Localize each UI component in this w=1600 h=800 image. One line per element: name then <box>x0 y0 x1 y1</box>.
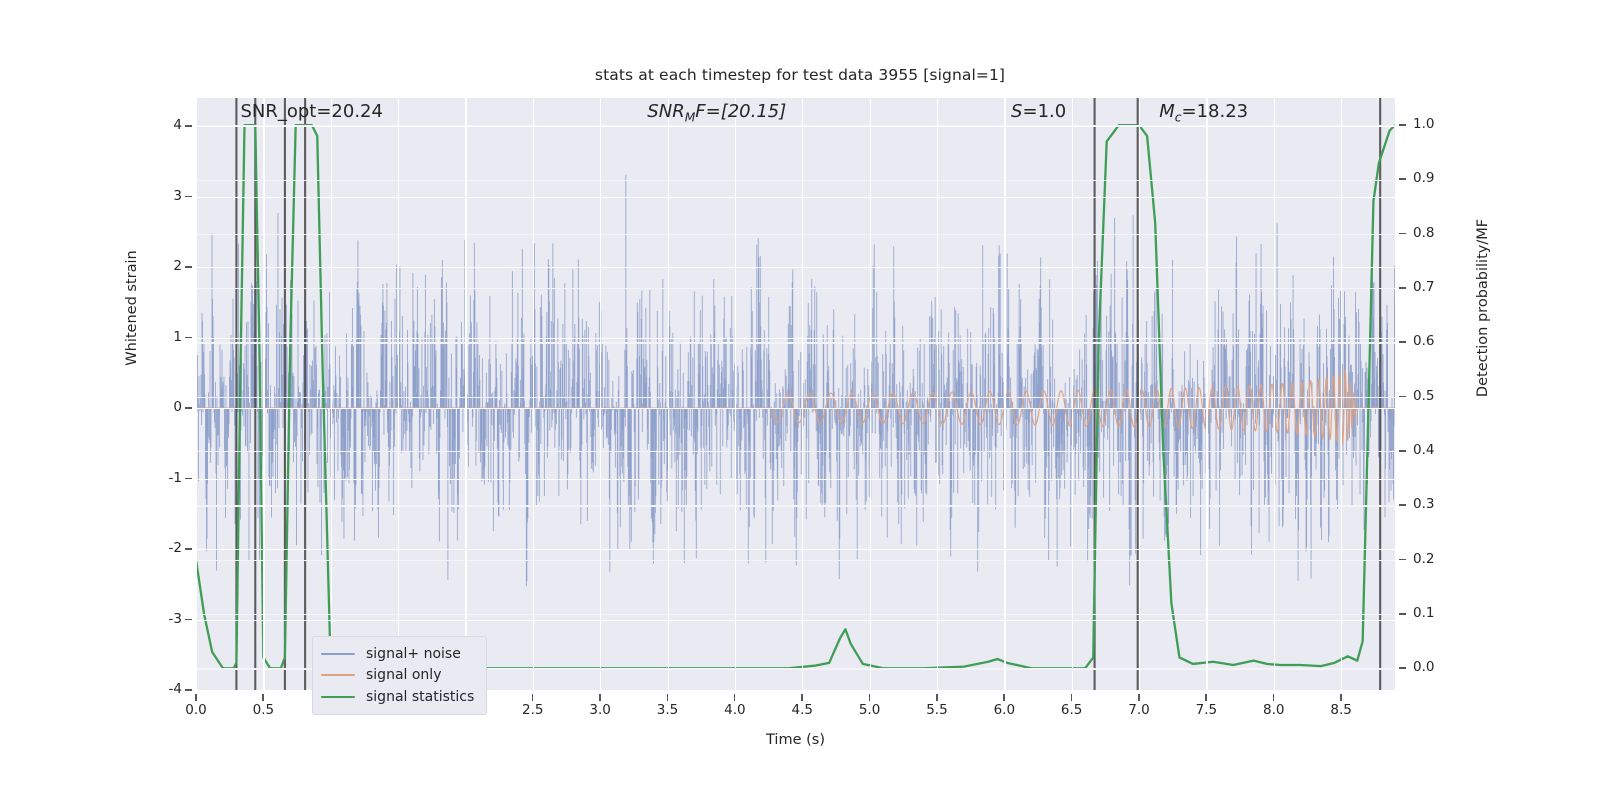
tick-mark <box>1273 694 1275 701</box>
y-tick-left-3: 1 <box>136 329 182 345</box>
tick-mark <box>801 694 803 701</box>
tick-mark <box>1138 694 1140 701</box>
figure-canvas: stats at each timestep for test data 395… <box>0 0 1600 800</box>
gridline-horizontal-minor <box>196 560 1395 561</box>
gridline-vertical <box>196 98 197 690</box>
tick-mark <box>667 694 669 701</box>
x-tick-10: 5.0 <box>840 702 900 718</box>
tick-mark <box>1340 694 1342 701</box>
gridline-vertical <box>1274 98 1275 690</box>
legend[interactable]: signal+ noisesignal onlysignal statistic… <box>312 636 487 715</box>
tick-mark <box>1071 694 1073 701</box>
tick-mark <box>185 619 192 621</box>
legend-label: signal statistics <box>366 689 474 705</box>
x-tick-9: 4.5 <box>772 702 832 718</box>
tick-mark <box>1399 450 1406 452</box>
gridline-horizontal <box>196 620 1395 621</box>
y-tick-right-3: 0.7 <box>1413 279 1465 295</box>
tick-mark <box>1399 233 1406 235</box>
gridline-horizontal-minor <box>196 342 1395 343</box>
gridline-vertical <box>1341 98 1342 690</box>
tick-mark <box>734 694 736 701</box>
gridline-horizontal <box>196 338 1395 339</box>
y-tick-left-7: -3 <box>136 611 182 627</box>
gridline-vertical <box>1206 98 1207 690</box>
tick-mark <box>185 478 192 480</box>
tick-mark <box>1399 559 1406 561</box>
tick-mark <box>599 694 601 701</box>
tick-mark <box>1399 613 1406 615</box>
y-tick-right-9: 0.1 <box>1413 605 1465 621</box>
tick-mark <box>1399 341 1406 343</box>
annotation-mc-text: Mc <box>1159 101 1181 122</box>
tick-mark <box>185 196 192 198</box>
x-tick-16: 8.0 <box>1244 702 1304 718</box>
gridline-vertical <box>1072 98 1073 690</box>
gridline-vertical <box>600 98 601 690</box>
plot-area <box>196 98 1395 690</box>
gridline-vertical <box>331 98 332 690</box>
gridline-horizontal-minor <box>196 288 1395 289</box>
legend-item-1[interactable]: signal only <box>321 665 474 687</box>
gridline-vertical <box>668 98 669 690</box>
gridline-vertical <box>937 98 938 690</box>
y-tick-left-2: 2 <box>136 258 182 274</box>
annotation-chirp-mass: Mc=18.23 <box>1159 101 1248 125</box>
y-tick-right-2: 0.8 <box>1413 225 1465 241</box>
annotation-s-prefix: S <box>1011 101 1022 122</box>
x-axis-label: Time (s) <box>196 732 1395 748</box>
y-tick-left-6: -2 <box>136 540 182 556</box>
y-tick-right-7: 0.3 <box>1413 496 1465 512</box>
tick-mark <box>869 694 871 701</box>
tick-mark <box>185 125 192 127</box>
y-tick-right-8: 0.2 <box>1413 551 1465 567</box>
x-tick-12: 6.0 <box>974 702 1034 718</box>
legend-swatch-icon <box>321 696 355 698</box>
tick-mark <box>936 694 938 701</box>
gridline-vertical <box>465 98 466 690</box>
tick-mark <box>195 694 197 701</box>
page-title: stats at each timestep for test data 395… <box>0 66 1600 84</box>
gridline-vertical <box>1139 98 1140 690</box>
annotation-snr-opt: SNR_opt=20.24 <box>240 101 383 122</box>
y-tick-right-6: 0.4 <box>1413 442 1465 458</box>
tick-mark <box>1205 694 1207 701</box>
y-tick-left-5: -1 <box>136 470 182 486</box>
gridline-vertical <box>263 98 264 690</box>
annotation-s-suffix: =1.0 <box>1022 101 1066 122</box>
gridline-vertical <box>870 98 871 690</box>
gridline-horizontal <box>196 267 1395 268</box>
gridline-vertical <box>802 98 803 690</box>
x-tick-13: 6.5 <box>1042 702 1102 718</box>
gridline-horizontal-minor <box>196 125 1395 126</box>
annotation-snr-opt-text: SNR_opt=20.24 <box>240 101 383 122</box>
y-tick-right-0: 1.0 <box>1413 116 1465 132</box>
tick-mark <box>262 694 264 701</box>
y-axis-right-label: Detection probability/MF <box>1475 143 1491 473</box>
gridline-horizontal <box>196 549 1395 550</box>
x-tick-5: 2.5 <box>503 702 563 718</box>
gridline-horizontal-minor <box>196 397 1395 398</box>
x-tick-1: 0.5 <box>233 702 293 718</box>
y-tick-right-1: 0.9 <box>1413 170 1465 186</box>
tick-mark <box>532 694 534 701</box>
legend-label: signal+ noise <box>366 646 461 662</box>
y-tick-right-10: 0.0 <box>1413 659 1465 675</box>
x-tick-0: 0.0 <box>166 702 226 718</box>
legend-swatch-icon <box>321 674 355 676</box>
legend-item-0[interactable]: signal+ noise <box>321 643 474 665</box>
annotation-snr-mf-text: SNRM <box>647 101 695 122</box>
x-tick-8: 4.0 <box>705 702 765 718</box>
tick-mark <box>185 337 192 339</box>
series-signal-noise <box>196 175 1395 586</box>
gridline-horizontal-minor <box>196 451 1395 452</box>
x-tick-14: 7.0 <box>1109 702 1169 718</box>
tick-mark <box>1399 667 1406 669</box>
annotation-signal-stat: S=1.0 <box>1011 101 1066 122</box>
annotation-mc-suffix: =18.23 <box>1182 101 1249 122</box>
tick-mark <box>185 689 192 691</box>
gridline-horizontal-minor <box>196 180 1395 181</box>
x-tick-17: 8.5 <box>1311 702 1371 718</box>
gridline-vertical <box>735 98 736 690</box>
legend-item-2[interactable]: signal statistics <box>321 686 474 708</box>
gridline-horizontal-minor <box>196 505 1395 506</box>
tick-mark <box>185 548 192 550</box>
gridline-vertical <box>1004 98 1005 690</box>
gridline-horizontal-minor <box>196 614 1395 615</box>
x-tick-15: 7.5 <box>1176 702 1236 718</box>
x-tick-6: 3.0 <box>570 702 630 718</box>
tick-mark <box>185 266 192 268</box>
y-tick-left-0: 4 <box>136 117 182 133</box>
tick-mark <box>1399 124 1406 126</box>
annotation-snr-mf: SNRMF=[20.15] <box>647 101 786 125</box>
tick-mark <box>185 407 192 409</box>
tick-mark <box>1399 396 1406 398</box>
tick-mark <box>1003 694 1005 701</box>
tick-mark <box>1399 178 1406 180</box>
gridline-vertical <box>533 98 534 690</box>
tick-mark <box>1399 504 1406 506</box>
gridline-horizontal <box>196 197 1395 198</box>
annotation-snr-mf-suffix: F=[20.15] <box>695 101 786 122</box>
y-tick-right-5: 0.5 <box>1413 388 1465 404</box>
y-tick-left-1: 3 <box>136 188 182 204</box>
legend-swatch-icon <box>321 653 355 655</box>
y-tick-left-4: 0 <box>136 399 182 415</box>
data-layer <box>196 98 1395 690</box>
gridline-vertical <box>398 98 399 690</box>
gridline-horizontal <box>196 479 1395 480</box>
legend-label: signal only <box>366 667 441 683</box>
x-tick-7: 3.5 <box>638 702 698 718</box>
tick-mark <box>1399 287 1406 289</box>
gridline-horizontal <box>196 408 1395 409</box>
y-tick-right-4: 0.6 <box>1413 333 1465 349</box>
gridline-horizontal-minor <box>196 234 1395 235</box>
y-tick-left-8: -4 <box>136 681 182 697</box>
x-tick-11: 5.5 <box>907 702 967 718</box>
